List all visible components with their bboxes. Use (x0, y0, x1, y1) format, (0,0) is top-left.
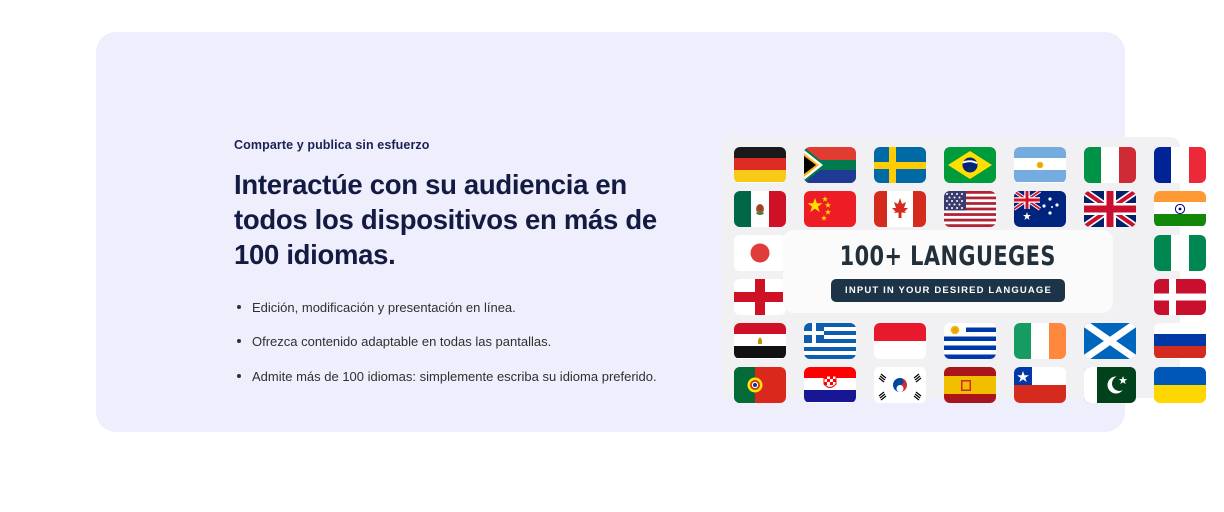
flag-cell (1010, 365, 1070, 404)
flag-nigeria-icon (1154, 235, 1206, 271)
copy-column: Comparte y publica sin esfuerzo Interact… (234, 138, 704, 402)
list-item: Edición, modificación y presentación en … (234, 299, 704, 317)
flag-china-icon (804, 191, 856, 227)
feature-bullet-list: Edición, modificación y presentación en … (234, 299, 704, 386)
overlay-title: 100+ LANGUEGES (840, 241, 1056, 272)
flag-cell (1080, 321, 1140, 360)
flag-denmark-icon (1154, 279, 1206, 315)
flag-argentina-icon (1014, 147, 1066, 183)
flag-france-icon (1154, 147, 1206, 183)
flag-cell (1080, 365, 1140, 404)
flag-india-icon (1154, 191, 1206, 227)
list-item: Ofrezca contenido adaptable en todas las… (234, 333, 704, 351)
flag-cell (1080, 189, 1140, 228)
flag-cell (870, 145, 930, 184)
flag-croatia-icon (804, 367, 856, 403)
flag-italy-icon (1084, 147, 1136, 183)
feature-panel: Comparte y publica sin esfuerzo Interact… (96, 32, 1125, 432)
flag-uruguay-icon (944, 323, 996, 359)
flag-egypt-icon (734, 323, 786, 359)
flag-south-korea-icon (874, 367, 926, 403)
flag-sweden-icon (874, 147, 926, 183)
flag-cell (1150, 145, 1210, 184)
flag-greece-icon (804, 323, 856, 359)
languages-overlay-card: 100+ LANGUEGES INPUT IN YOUR DESIRED LAN… (783, 230, 1113, 313)
flag-united-kingdom-icon (1084, 191, 1136, 227)
flag-cell (940, 321, 1000, 360)
flag-board: 100+ LANGUEGES INPUT IN YOUR DESIRED LAN… (722, 137, 1180, 398)
flag-cell (1010, 145, 1070, 184)
flag-pakistan-icon (1084, 367, 1136, 403)
flag-cell (940, 145, 1000, 184)
list-item: Admite más de 100 idiomas: simplemente e… (234, 368, 704, 386)
flag-south-africa-icon (804, 147, 856, 183)
flag-cell (730, 233, 790, 272)
flag-cell (1150, 365, 1210, 404)
page-title: Interactúe con su audiencia en todos los… (234, 167, 704, 273)
flag-cell (1150, 321, 1210, 360)
flag-ireland-icon (1014, 323, 1066, 359)
flag-indonesia-icon (874, 323, 926, 359)
flag-spain-icon (944, 367, 996, 403)
flag-cell (940, 365, 1000, 404)
flag-russia-icon (1154, 323, 1206, 359)
page-root: Comparte y publica sin esfuerzo Interact… (0, 0, 1224, 512)
status-badge: INPUT IN YOUR DESIRED LANGUAGE (831, 279, 1065, 302)
flag-cell (800, 365, 860, 404)
flag-brazil-icon (944, 147, 996, 183)
flag-japan-icon (734, 235, 786, 271)
flag-cell (800, 145, 860, 184)
flag-england-icon (734, 279, 786, 315)
flag-cell (800, 321, 860, 360)
flag-germany-icon (734, 147, 786, 183)
flag-cell (800, 189, 860, 228)
flag-cell (730, 189, 790, 228)
flag-cell (1010, 321, 1070, 360)
flag-cell (730, 277, 790, 316)
flag-cell (940, 189, 1000, 228)
flag-australia-icon (1014, 191, 1066, 227)
flag-cell (730, 321, 790, 360)
flag-cell (1150, 233, 1210, 272)
flag-cell (870, 189, 930, 228)
flag-cell (730, 365, 790, 404)
flag-united-states-icon (944, 191, 996, 227)
section-eyebrow: Comparte y publica sin esfuerzo (234, 138, 704, 153)
flag-ukraine-icon (1154, 367, 1206, 403)
flag-portugal-icon (734, 367, 786, 403)
flag-cell (1150, 277, 1210, 316)
flag-mexico-icon (734, 191, 786, 227)
flag-cell (870, 321, 930, 360)
flag-cell (1080, 145, 1140, 184)
flag-cell (730, 145, 790, 184)
flag-cell (870, 365, 930, 404)
flag-cell (1150, 189, 1210, 228)
flag-canada-icon (874, 191, 926, 227)
flag-chile-icon (1014, 367, 1066, 403)
flag-scotland-icon (1084, 323, 1136, 359)
flag-cell (1010, 189, 1070, 228)
